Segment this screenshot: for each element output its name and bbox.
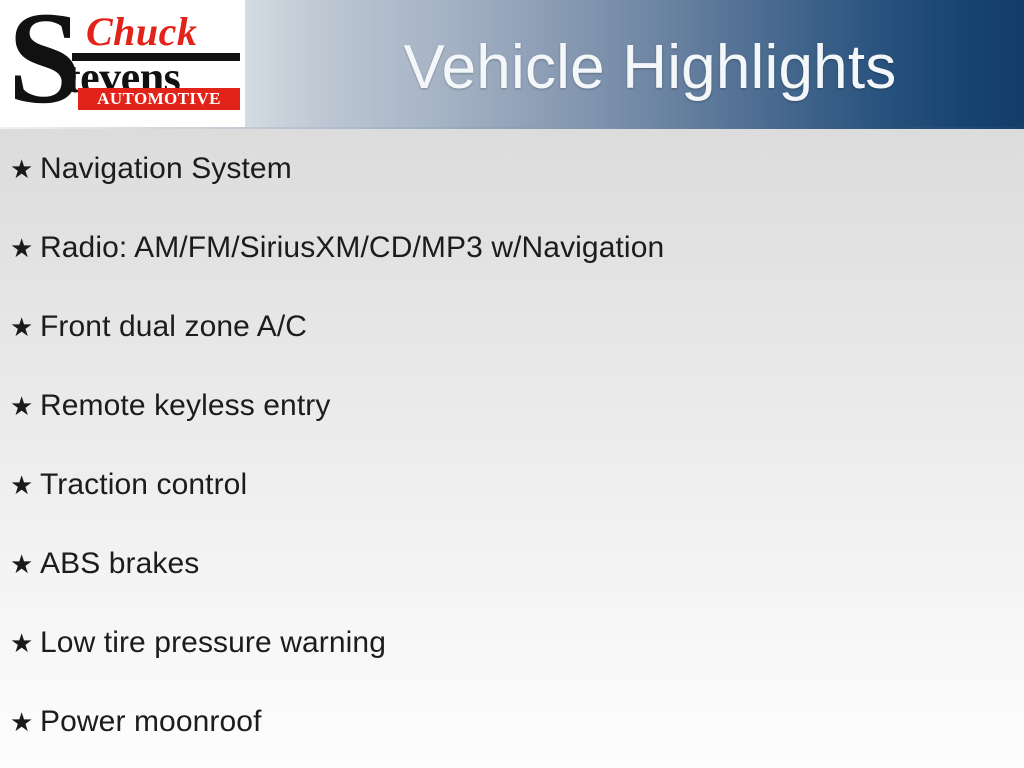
- star-bullet-icon: ★: [10, 235, 40, 261]
- star-bullet-icon: ★: [10, 630, 40, 656]
- feature-label: Front dual zone A/C: [40, 310, 307, 344]
- feature-label: Navigation System: [40, 152, 292, 186]
- list-item: ★ABS brakes: [0, 524, 1024, 603]
- list-item: ★Navigation System: [0, 129, 1024, 208]
- star-bullet-icon: ★: [10, 314, 40, 340]
- feature-label: ABS brakes: [40, 547, 199, 581]
- list-item: ★Low tire pressure warning: [0, 603, 1024, 682]
- star-bullet-icon: ★: [10, 472, 40, 498]
- logo-tagline-text: AUTOMOTIVE: [78, 88, 240, 110]
- feature-label: Low tire pressure warning: [40, 626, 386, 660]
- vehicle-highlights-slide: Vehicle Highlights S Chuck tevens AUTOMO…: [0, 0, 1024, 768]
- slide-header: Vehicle Highlights S Chuck tevens AUTOMO…: [0, 0, 1024, 129]
- star-bullet-icon: ★: [10, 709, 40, 735]
- star-bullet-icon: ★: [10, 551, 40, 577]
- feature-label: Radio: AM/FM/SiriusXM/CD/MP3 w/Navigatio…: [40, 231, 664, 265]
- star-bullet-icon: ★: [10, 393, 40, 419]
- list-item: ★Remote keyless entry: [0, 366, 1024, 445]
- star-bullet-icon: ★: [10, 156, 40, 182]
- list-item: ★Power moonroof: [0, 682, 1024, 761]
- feature-label: Traction control: [40, 468, 247, 502]
- list-item: ★Radio: AM/FM/SiriusXM/CD/MP3 w/Navigati…: [0, 208, 1024, 287]
- logo-tagline-band: AUTOMOTIVE: [78, 88, 240, 110]
- list-item: ★Traction control: [0, 445, 1024, 524]
- vehicle-feature-list: ★Navigation System★Radio: AM/FM/SiriusXM…: [0, 129, 1024, 761]
- list-item: ★Front dual zone A/C: [0, 287, 1024, 366]
- logo-first-name: Chuck: [86, 12, 197, 52]
- feature-label: Remote keyless entry: [40, 389, 330, 423]
- feature-label: Power moonroof: [40, 705, 262, 739]
- slide-body: ★Navigation System★Radio: AM/FM/SiriusXM…: [0, 129, 1024, 768]
- page-title: Vehicle Highlights: [300, 20, 1000, 116]
- dealer-logo: S Chuck tevens AUTOMOTIVE: [0, 0, 245, 128]
